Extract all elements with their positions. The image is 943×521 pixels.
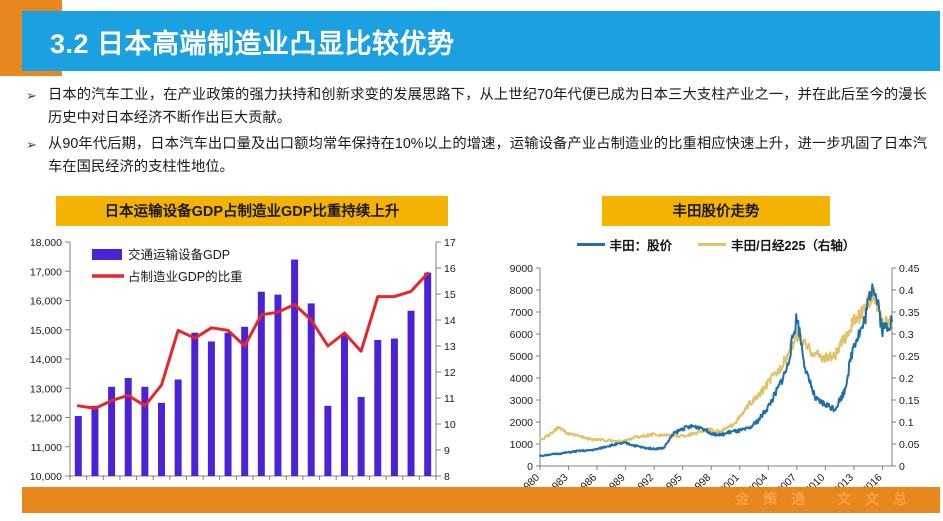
legend-label: 丰田：股价 bbox=[610, 235, 673, 254]
left-chart-svg: 10,00011,00012,00013,00014,00015,00016,0… bbox=[18, 230, 486, 520]
legend-label: 丰田/日经225（右轴） bbox=[731, 235, 855, 254]
bullet-text: 从90年代后期，日本汽车出口量及出口额均常年保持在10%以上的增速，运输设备产业… bbox=[48, 133, 927, 179]
chart-panel-left: 日本运输设备GDP占制造业GDP比重持续上升 10,00011,00012,00… bbox=[18, 196, 486, 520]
svg-text:0.2: 0.2 bbox=[899, 373, 914, 385]
svg-text:8000: 8000 bbox=[510, 285, 534, 297]
svg-text:3000: 3000 bbox=[510, 395, 534, 407]
svg-text:0: 0 bbox=[527, 461, 533, 473]
svg-text:0: 0 bbox=[899, 461, 905, 473]
chart-panel-right: 丰田股价走势 丰田：股价 丰田/日经225（右轴） 01000200030004… bbox=[492, 196, 940, 516]
svg-text:18,000: 18,000 bbox=[30, 237, 62, 249]
svg-text:11,000: 11,000 bbox=[31, 442, 62, 454]
svg-text:16,000: 16,000 bbox=[30, 296, 62, 308]
svg-text:0.35: 0.35 bbox=[899, 307, 920, 319]
svg-text:0.3: 0.3 bbox=[899, 329, 914, 341]
chart-plot-right: 010002000300040005000600070008000900000.… bbox=[492, 258, 940, 516]
svg-text:13: 13 bbox=[444, 341, 456, 353]
svg-text:1000: 1000 bbox=[510, 439, 534, 451]
chart-title-left: 日本运输设备GDP占制造业GDP比重持续上升 bbox=[56, 196, 448, 226]
svg-text:7000: 7000 bbox=[510, 307, 534, 319]
svg-text:12: 12 bbox=[444, 367, 456, 379]
legend-swatch-icon bbox=[577, 243, 605, 246]
svg-text:17: 17 bbox=[444, 237, 456, 249]
svg-text:占制造业GDP的比重: 占制造业GDP的比重 bbox=[128, 269, 243, 284]
svg-text:16: 16 bbox=[444, 263, 456, 275]
bullet-list: ➢ 日本的汽车工业，在产业政策的强力扶持和创新求变的发展思路下，从上世纪70年代… bbox=[22, 84, 927, 182]
footer-watermark: 金策通 文文总 bbox=[735, 489, 921, 509]
chart-title-right: 丰田股价走势 bbox=[602, 196, 830, 226]
page-title: 3.2 日本高端制造业凸显比较优势 bbox=[50, 22, 455, 61]
svg-text:0.45: 0.45 bbox=[899, 263, 920, 275]
svg-text:5000: 5000 bbox=[510, 351, 534, 363]
legend-item-toyota-price: 丰田：股价 bbox=[577, 235, 673, 254]
svg-text:10: 10 bbox=[444, 419, 456, 431]
svg-text:14: 14 bbox=[444, 315, 456, 327]
list-item: ➢ 日本的汽车工业，在产业政策的强力扶持和创新求变的发展思路下，从上世纪70年代… bbox=[22, 84, 927, 130]
svg-text:12,000: 12,000 bbox=[30, 413, 62, 425]
right-chart-svg: 010002000300040005000600070008000900000.… bbox=[492, 258, 940, 516]
svg-text:15: 15 bbox=[444, 289, 456, 301]
svg-text:0.1: 0.1 bbox=[899, 417, 914, 429]
legend-swatch-icon bbox=[698, 243, 726, 246]
chart-legend-right: 丰田：股价 丰田/日经225（右轴） bbox=[492, 235, 940, 254]
svg-text:0.05: 0.05 bbox=[899, 439, 920, 451]
svg-text:4000: 4000 bbox=[510, 373, 534, 385]
svg-text:17,000: 17,000 bbox=[30, 266, 62, 278]
svg-text:6000: 6000 bbox=[510, 329, 534, 341]
svg-text:13,000: 13,000 bbox=[30, 383, 62, 395]
svg-text:0.4: 0.4 bbox=[899, 285, 914, 297]
bullet-marker-icon: ➢ bbox=[22, 84, 48, 107]
svg-text:交通运输设备GDP: 交通运输设备GDP bbox=[128, 247, 230, 262]
svg-text:14,000: 14,000 bbox=[30, 354, 62, 366]
chart-plot-left: 10,00011,00012,00013,00014,00015,00016,0… bbox=[18, 230, 486, 520]
svg-text:0.15: 0.15 bbox=[899, 395, 920, 407]
svg-text:9000: 9000 bbox=[510, 263, 534, 275]
bullet-text: 日本的汽车工业，在产业政策的强力扶持和创新求变的发展思路下，从上世纪70年代便已… bbox=[48, 84, 927, 130]
svg-text:9: 9 bbox=[444, 445, 450, 457]
svg-text:11: 11 bbox=[444, 393, 455, 405]
bullet-marker-icon: ➢ bbox=[22, 133, 48, 156]
svg-text:15,000: 15,000 bbox=[30, 325, 62, 337]
svg-text:10,000: 10,000 bbox=[30, 471, 62, 483]
svg-text:0.25: 0.25 bbox=[899, 351, 920, 363]
svg-text:2000: 2000 bbox=[510, 417, 534, 429]
legend-item-toyota-nikkei: 丰田/日经225（右轴） bbox=[698, 235, 855, 254]
svg-text:8: 8 bbox=[444, 471, 450, 483]
list-item: ➢ 从90年代后期，日本汽车出口量及出口额均常年保持在10%以上的增速，运输设备… bbox=[22, 133, 927, 179]
